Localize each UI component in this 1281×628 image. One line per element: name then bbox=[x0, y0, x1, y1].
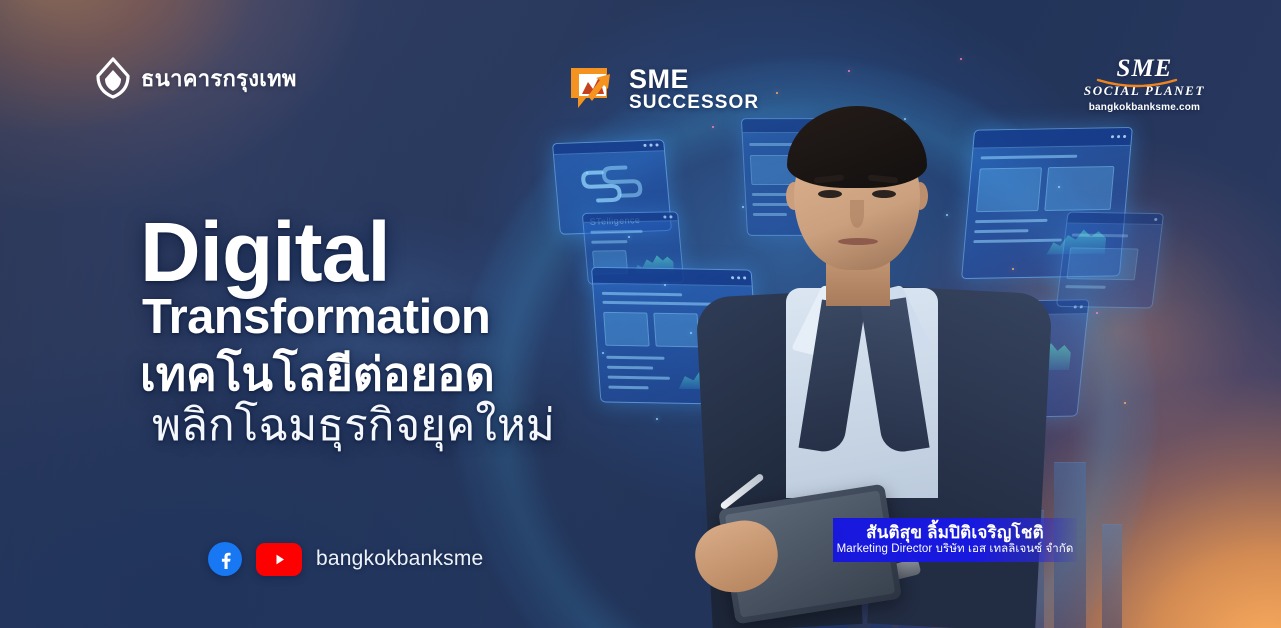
sme-successor-logo[interactable]: SME SUCCESSOR bbox=[566, 62, 759, 116]
headline-block: Digital Transformation เทคโนโลยีต่อยอด พ… bbox=[140, 214, 610, 451]
speaker-name: สันติสุข ลิ้มปิติเจริญโชติ bbox=[866, 523, 1044, 543]
promo-banner: STelligence bbox=[0, 0, 1281, 628]
headline-line-transformation: Transformation bbox=[142, 293, 610, 343]
bangkok-bank-flame-icon bbox=[96, 57, 130, 99]
facebook-f-glyph bbox=[215, 549, 235, 569]
bank-name-label: ธนาคารกรุงเทพ bbox=[141, 61, 297, 96]
swoosh-icon bbox=[1096, 78, 1178, 90]
youtube-icon[interactable] bbox=[256, 543, 302, 576]
speaker-role: Marketing Director บริษัท เอส เทลลิเจนซ์… bbox=[837, 543, 1074, 557]
eye-right bbox=[872, 190, 896, 198]
mouth bbox=[838, 238, 878, 245]
social-handle-label: bangkokbanksme bbox=[316, 547, 483, 571]
social-links-row[interactable]: bangkokbanksme bbox=[208, 542, 483, 576]
sme-successor-line1: SME bbox=[629, 66, 759, 93]
youtube-play-glyph bbox=[272, 552, 287, 567]
sme-successor-line2: SUCCESSOR bbox=[629, 93, 759, 112]
headline-line-thai-primary: เทคโนโลยีต่อยอด bbox=[140, 347, 610, 401]
nose bbox=[850, 200, 864, 228]
sme-successor-chat-arrow-icon bbox=[566, 62, 620, 116]
headline-line-thai-secondary: พลิกโฉมธุรกิจยุคใหม่ bbox=[152, 400, 610, 452]
sme-social-planet-logo[interactable]: SME SOCIAL PLANET bangkokbanksme.com bbox=[1084, 56, 1205, 115]
speaker-name-plate: สันติสุข ลิ้มปิติเจริญโชติ Marketing Dir… bbox=[833, 518, 1077, 562]
sme-successor-wordmark: SME SUCCESSOR bbox=[629, 66, 759, 112]
facebook-icon[interactable] bbox=[208, 542, 242, 576]
eye-left bbox=[818, 190, 842, 198]
bangkok-bank-logo[interactable]: ธนาคารกรุงเทพ bbox=[96, 57, 297, 99]
hair bbox=[787, 106, 927, 188]
headline-line-digital: Digital bbox=[140, 214, 610, 291]
sme-planet-url: bangkokbanksme.com bbox=[1084, 101, 1205, 115]
